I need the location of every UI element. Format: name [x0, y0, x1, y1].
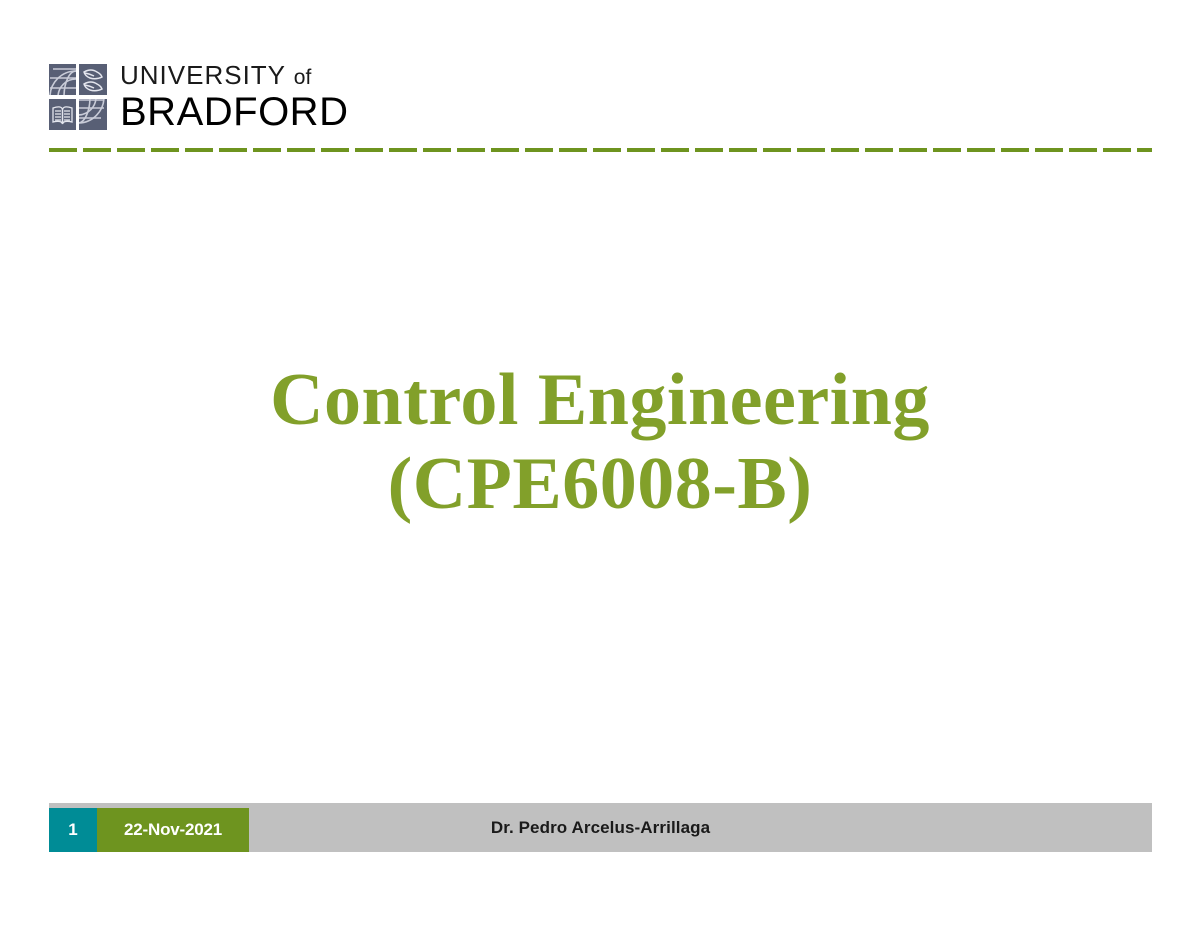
title-line-1: Control Engineering	[0, 358, 1200, 442]
footer-page-number: 1	[49, 808, 97, 852]
wordmark-university-of: UNIVERSITY of	[120, 62, 348, 88]
wordmark-university: UNIVERSITY	[120, 60, 286, 90]
slide-title: Control Engineering (CPE6008-B)	[0, 358, 1200, 526]
slide-footer: Dr. Pedro Arcelus-Arrillaga 1 22-Nov-202…	[49, 803, 1152, 852]
university-wordmark: UNIVERSITY of BRADFORD	[120, 62, 348, 132]
wordmark-bradford: BRADFORD	[120, 92, 348, 132]
slide-canvas: UNIVERSITY of BRADFORD Control Engineeri…	[0, 0, 1200, 927]
university-logo: UNIVERSITY of BRADFORD	[49, 62, 348, 132]
title-line-2: (CPE6008-B)	[0, 442, 1200, 526]
university-crest-globe-icon	[49, 64, 107, 130]
footer-date: 22-Nov-2021	[97, 808, 249, 852]
header-divider	[49, 148, 1152, 152]
wordmark-of: of	[294, 66, 312, 89]
